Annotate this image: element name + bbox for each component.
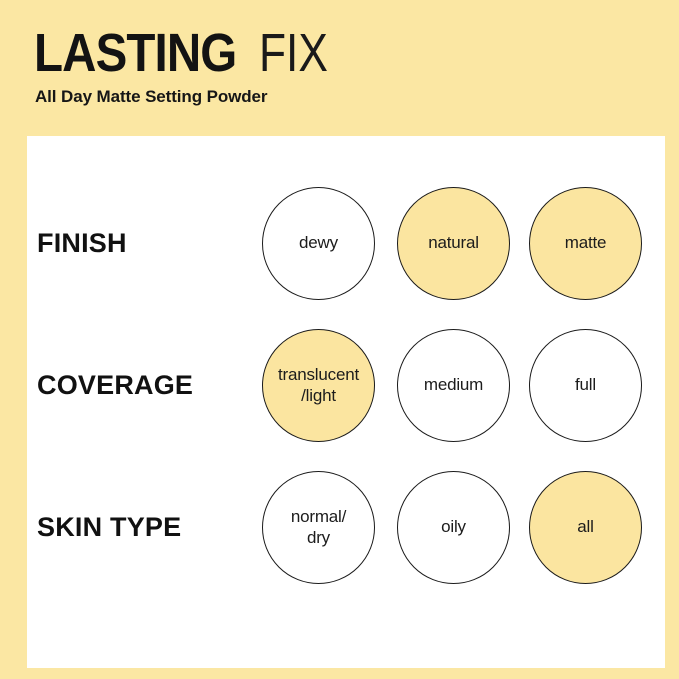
option-bubble-natural[interactable]: natural [397, 187, 510, 300]
attribute-row-coverage: COVERAGE translucent /light medium full [27, 314, 665, 456]
option-bubble-dewy[interactable]: dewy [262, 187, 375, 300]
option-group-finish: dewy natural matte [259, 172, 665, 314]
product-subtitle: All Day Matte Setting Powder [35, 87, 267, 107]
product-attributes-infographic: LASTING FIX All Day Matte Setting Powder… [0, 0, 679, 679]
product-title-primary: LASTING [34, 26, 236, 80]
attribute-label-coverage: COVERAGE [37, 314, 193, 456]
option-group-coverage: translucent /light medium full [259, 314, 665, 456]
option-bubble-translucent-light[interactable]: translucent /light [262, 329, 375, 442]
option-group-skin-type: normal/ dry oily all [259, 456, 665, 598]
product-title-secondary: FIX [259, 26, 328, 80]
option-bubble-oily[interactable]: oily [397, 471, 510, 584]
option-bubble-matte[interactable]: matte [529, 187, 642, 300]
attribute-row-finish: FINISH dewy natural matte [27, 172, 665, 314]
product-title: LASTING FIX [34, 26, 343, 78]
attributes-card: FINISH dewy natural matte COVERAGE trans… [27, 136, 665, 668]
option-bubble-all[interactable]: all [529, 471, 642, 584]
attribute-row-skin-type: SKIN TYPE normal/ dry oily all [27, 456, 665, 598]
option-bubble-normal-dry[interactable]: normal/ dry [262, 471, 375, 584]
header-banner: LASTING FIX All Day Matte Setting Powder [0, 0, 679, 136]
option-bubble-full[interactable]: full [529, 329, 642, 442]
option-bubble-medium[interactable]: medium [397, 329, 510, 442]
attribute-label-skin-type: SKIN TYPE [37, 456, 181, 598]
attribute-label-finish: FINISH [37, 172, 127, 314]
